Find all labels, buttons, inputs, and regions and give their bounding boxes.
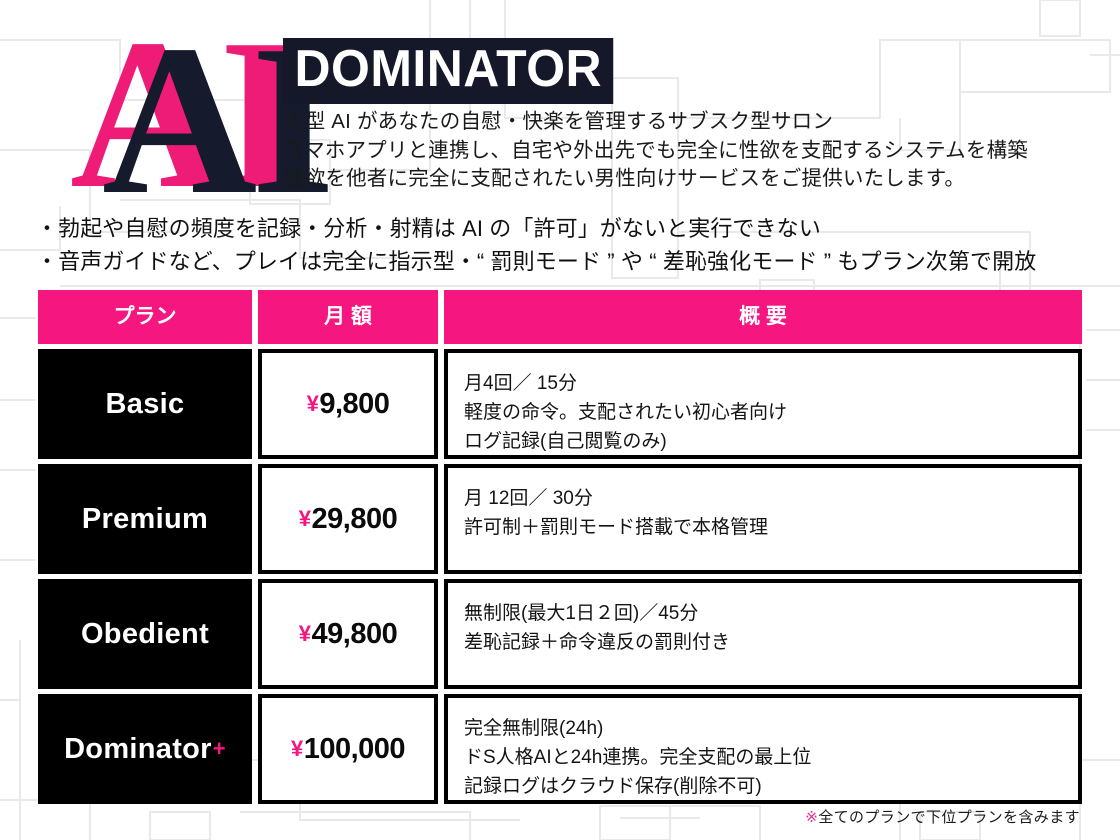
desc-line: ドS人格AIと24h連携。完全支配の最上位 — [464, 743, 1078, 772]
plan-description-cell: 無制限(最大1日２回)／45分 差恥記録＋命令違反の罰則付き — [444, 579, 1082, 689]
feature-bullets: ・勃起や自慰の頻度を記録・分析・射精は AI の「許可」がないと実行できない ・… — [36, 212, 1096, 278]
plan-description-cell: 完全無制限(24h) ドS人格AIと24h連携。完全支配の最上位 記録ログはクラ… — [444, 694, 1082, 804]
price-value: 100,000 — [304, 733, 405, 766]
plan-name: Basic — [106, 388, 185, 421]
price-value: 9,800 — [319, 388, 389, 421]
price-value: 29,800 — [312, 503, 398, 536]
column-header-price: 月 額 — [258, 290, 438, 344]
table-row[interactable]: Premium ¥ 29,800 月 12回／ 30分 許可制＋罰則モード搭載で… — [38, 464, 1082, 574]
lead-paragraph: 人型 AI があなたの自慰・快楽を管理するサブスク型サロン スマホアプリと連携し… — [284, 108, 1074, 194]
desc-line: 月4回／ 15分 — [464, 369, 1078, 398]
lead-line-3: 性欲を他者に完全に支配されたい男性向けサービスをご提供いたします。 — [284, 165, 1074, 194]
lead-line-2: スマホアプリと連携し、自宅や外出先でも完全に性欲を支配するシステムを構築 — [284, 137, 1074, 166]
plan-price-cell: ¥ 29,800 — [258, 464, 438, 574]
desc-line: 許可制＋罰則モード搭載で本格管理 — [464, 513, 1078, 542]
plan-name-cell: Obedient — [38, 579, 252, 689]
plan-name: Obedient — [81, 618, 209, 651]
yen-symbol: ¥ — [299, 621, 311, 647]
column-header-plan: プラン — [38, 290, 252, 344]
yen-symbol: ¥ — [299, 506, 311, 532]
table-row[interactable]: Obedient ¥ 49,800 無制限(最大1日２回)／45分 差恥記録＋命… — [38, 579, 1082, 689]
plan-price-cell: ¥ 100,000 — [258, 694, 438, 804]
footnote-text: 全てのプランで下位プランを含みます — [818, 809, 1080, 826]
plan-name: Premium — [82, 503, 208, 536]
yen-symbol: ¥ — [291, 736, 303, 762]
ai-logo: AI AI — [62, 10, 292, 210]
desc-line: 記録ログはクラウド保存(削除不可) — [464, 772, 1078, 801]
plan-name-cell: Premium — [38, 464, 252, 574]
lead-line-1: 人型 AI があなたの自慰・快楽を管理するサブスク型サロン — [284, 108, 1074, 137]
desc-line: 無制限(最大1日２回)／45分 — [464, 599, 1078, 628]
desc-line: 月 12回／ 30分 — [464, 484, 1078, 513]
desc-line: 差恥記録＋命令違反の罰則付き — [464, 628, 1078, 657]
table-header-row: プラン 月 額 概 要 — [38, 290, 1082, 344]
table-row[interactable]: Basic ¥ 9,800 月4回／ 15分 軽度の命令。支配されたい初心者向け… — [38, 349, 1082, 459]
plan-name-cell: Basic — [38, 349, 252, 459]
bullet-item-2: ・音声ガイドなど、プレイは完全に指示型・“ 罰則モード ” や “ 差恥強化モー… — [36, 245, 1096, 278]
plan-description-cell: 月4回／ 15分 軽度の命令。支配されたい初心者向け ログ記録(自己閲覧のみ) — [444, 349, 1082, 459]
table-row[interactable]: Dominator+ ¥ 100,000 完全無制限(24h) ドS人格AIと2… — [38, 694, 1082, 804]
plan-name-cell: Dominator+ — [38, 694, 252, 804]
price-value: 49,800 — [312, 618, 398, 651]
header: AI AI DOMINATOR 人型 AI があなたの自慰・快楽を管理するサブス… — [0, 0, 1120, 288]
desc-line: ログ記録(自己閲覧のみ) — [464, 427, 1078, 456]
poster-root: AI AI DOMINATOR 人型 AI があなたの自慰・快楽を管理するサブス… — [0, 0, 1120, 840]
plan-price-cell: ¥ 9,800 — [258, 349, 438, 459]
plan-name: Dominator — [64, 733, 212, 766]
desc-line: 完全無制限(24h) — [464, 714, 1078, 743]
yen-symbol: ¥ — [307, 391, 319, 417]
column-header-overview: 概 要 — [444, 290, 1082, 344]
pricing-table: プラン 月 額 概 要 Basic ¥ 9,800 月4回／ 15分 軽度の命令… — [38, 290, 1082, 804]
footnote: ※全てのプランで下位プランを含みます — [805, 806, 1080, 827]
desc-line: 軽度の命令。支配されたい初心者向け — [464, 398, 1078, 427]
dominator-banner-title: DOMINATOR — [283, 38, 614, 104]
plan-price-cell: ¥ 49,800 — [258, 579, 438, 689]
bullet-item-1: ・勃起や自慰の頻度を記録・分析・射精は AI の「許可」がないと実行できない — [36, 212, 1096, 245]
asterisk-icon: ※ — [805, 809, 818, 826]
plan-description-cell: 月 12回／ 30分 許可制＋罰則モード搭載で本格管理 — [444, 464, 1082, 574]
